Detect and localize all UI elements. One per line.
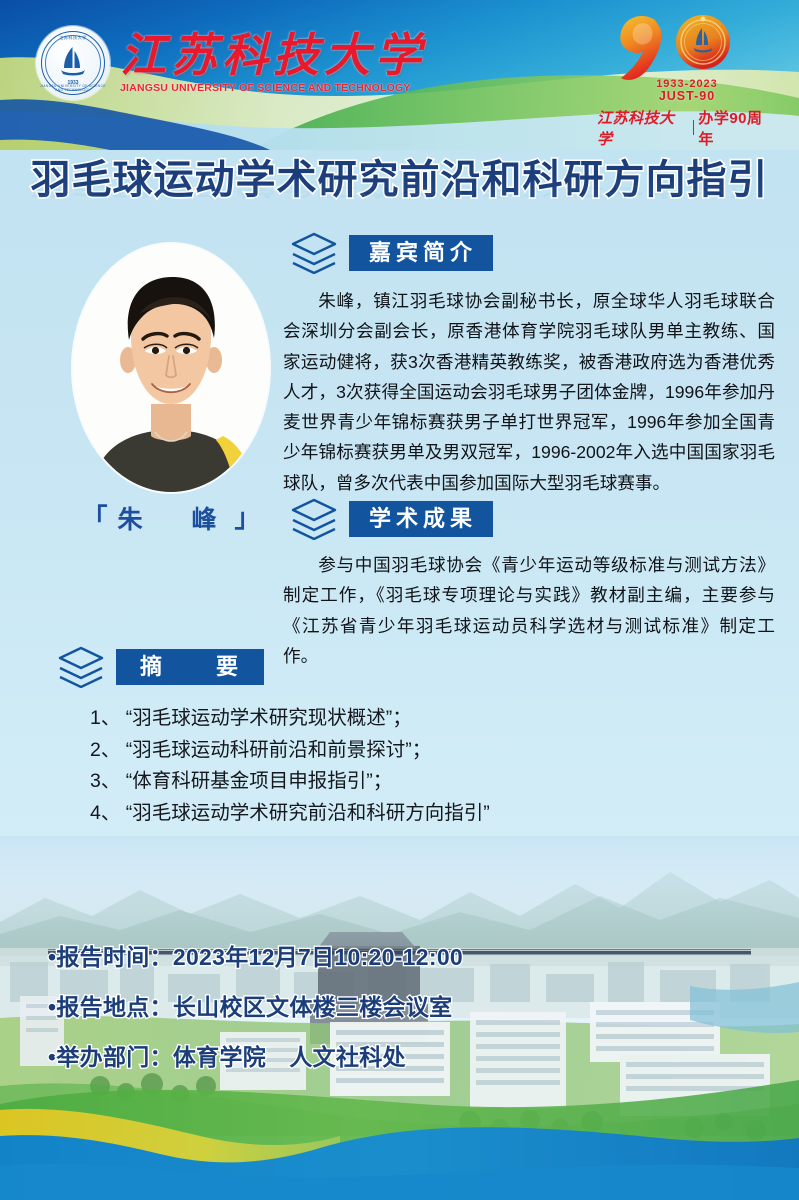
anniversary-cn-red: 江苏科技大学: [597, 107, 689, 149]
info-value-location: 长山校区文体楼三楼会议室: [173, 994, 453, 1020]
university-name-en: JIANGSU UNIVERSITY OF SCIENCE AND TECHNO…: [120, 82, 426, 94]
info-line-location: •报告地点：长山校区文体楼三楼会议室: [48, 988, 463, 1022]
speaker-name: 朱 峰: [113, 500, 228, 536]
speaker-name-caption: 「 朱 峰 」: [73, 500, 269, 536]
info-line-time: •报告时间：2023年12月7日10:20-12:00: [48, 938, 463, 972]
anniversary-code: JUST-90: [659, 90, 715, 104]
info-line-organizer: •举办部门：体育学院 人文社科处: [48, 1038, 463, 1072]
list-item: 2、 “羽毛球运动科研前沿和前景探讨”；: [90, 735, 750, 767]
section-badge-achievements: 学术成果: [349, 501, 493, 538]
poster-root: 江苏科技大学 1933 JIANGSU UNIVERSITY OF SCIENC…: [0, 0, 799, 1200]
list-item: 3、 “体育科研基金项目申报指引”；: [90, 766, 750, 798]
event-info-block: •报告时间：2023年12月7日10:20-12:00 •报告地点：长山校区文体…: [48, 938, 463, 1072]
info-label-organizer: 举办部门：: [56, 1044, 173, 1070]
speaker-portrait: [73, 244, 269, 492]
achievements-text: 参与中国羽毛球协会《青少年运动等级标准与测试方法》制定工作，《羽毛球专项理论与实…: [283, 550, 775, 671]
stacked-layers-icon: [291, 498, 337, 540]
info-label-location: 报告地点：: [56, 994, 173, 1020]
section-badge-abstract: 摘 要: [116, 649, 264, 686]
poster-title-block: 羽毛球运动学术研究前沿和科研方向指引 羽毛球运动学术研究前沿和科研方向指引: [0, 158, 799, 263]
list-item: 4、 “羽毛球运动学术研究前沿和科研方向指引”: [90, 798, 750, 830]
seal-bottom-text: JIANGSU UNIVERSITY OF SCIENCE AND TECHNO…: [36, 84, 110, 92]
guest-intro-text: 朱峰，镇江羽毛球协会副秘书长，原全球华人羽毛球联合会深圳分会副会长，原香港体育学…: [283, 286, 775, 498]
info-label-time: 报告时间：: [56, 944, 173, 970]
sailboat-glyph-icon: [58, 45, 88, 79]
university-logo: 江苏科技大学 1933 JIANGSU UNIVERSITY OF SCIENC…: [36, 26, 426, 100]
header-banner: 江苏科技大学 1933 JIANGSU UNIVERSITY OF SCIENC…: [0, 0, 799, 150]
section-header-abstract: 摘 要: [58, 646, 264, 688]
abstract-list: 1、 “羽毛球运动学术研究现状概述”； 2、 “羽毛球运动科研前沿和前景探讨”；…: [90, 703, 750, 829]
page-title-reflection: 羽毛球运动学术研究前沿和科研方向指引: [0, 173, 799, 205]
info-value-organizer: 体育学院 人文社科处: [173, 1044, 406, 1070]
university-name-cn: 江苏科技大学: [120, 32, 426, 80]
seal-top-text: 江苏科技大学: [36, 35, 110, 41]
sailboat-seal-icon: 江苏科技大学 1933 JIANGSU UNIVERSITY OF SCIENC…: [36, 26, 110, 100]
anniversary-logo: 1933-2023 JUST-90 江苏科技大学 办学90周年 The 90th…: [597, 10, 777, 142]
section-header-achievements: 学术成果: [291, 498, 493, 540]
anniversary-90-mark-icon: [607, 10, 767, 82]
info-value-time: 2023年12月7日10:20-12:00: [173, 944, 463, 970]
anniversary-divider: [693, 120, 694, 135]
bracket-right: 」: [235, 505, 261, 531]
stacked-layers-icon: [58, 646, 104, 688]
list-item: 1、 “羽毛球运动学术研究现状概述”；: [90, 703, 750, 735]
bracket-left: 「: [81, 505, 107, 531]
anniversary-cn-text: 办学90周年: [698, 107, 777, 149]
